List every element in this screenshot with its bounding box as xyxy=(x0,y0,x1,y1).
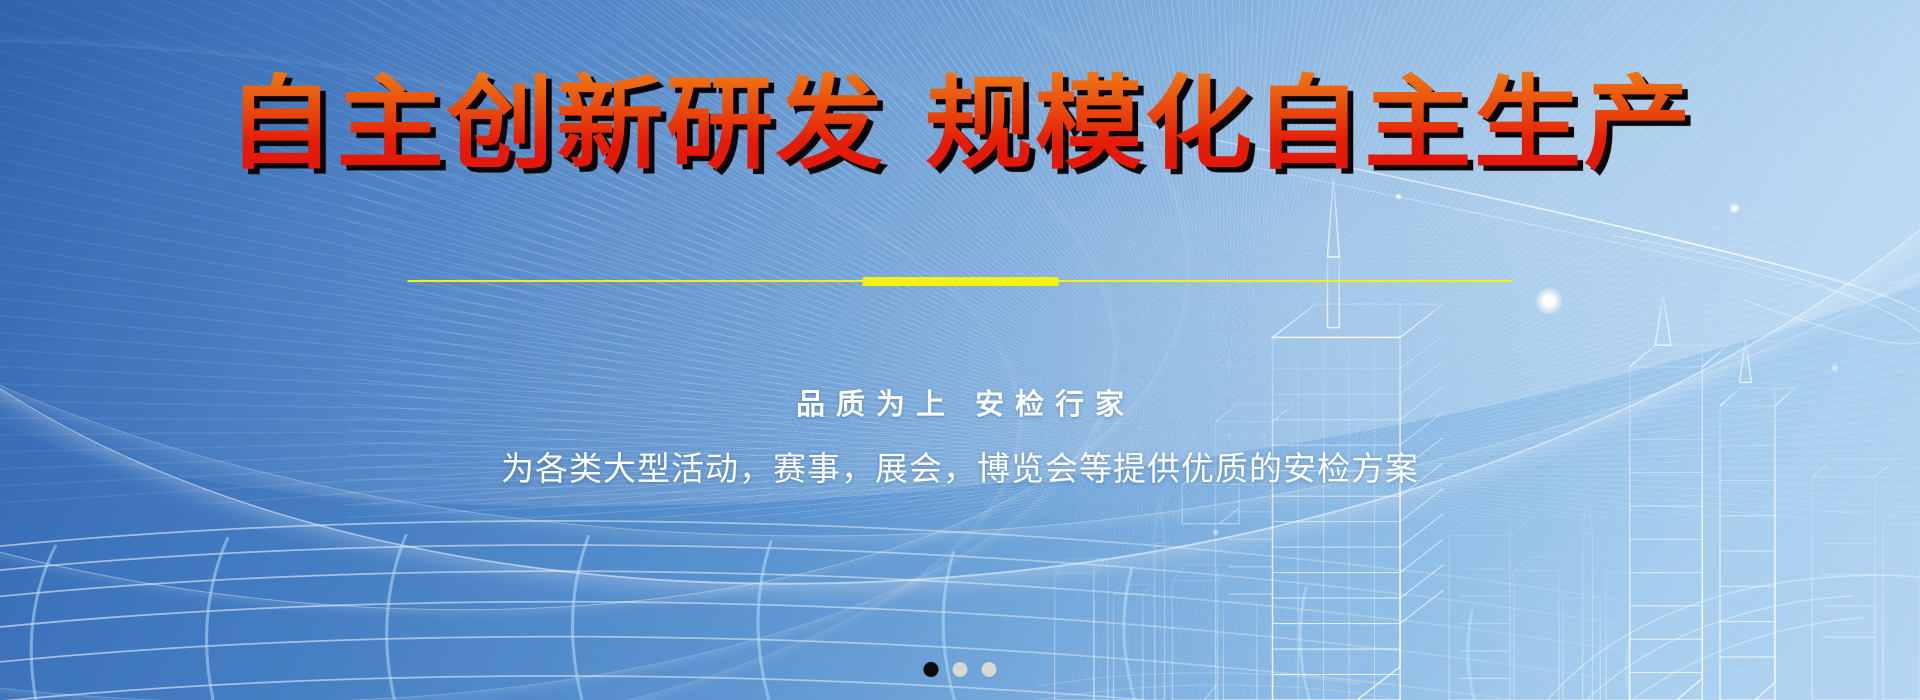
hero-banner: 自主创新研发 规模化自主生产 品质为上 安检行家 为各类大型活动，赛事，展会，博… xyxy=(0,0,1920,700)
carousel-dot-2[interactable] xyxy=(953,662,968,677)
banner-content: 自主创新研发 规模化自主生产 品质为上 安检行家 为各类大型活动，赛事，展会，博… xyxy=(0,0,1920,700)
banner-subline: 为各类大型活动，赛事，展会，博览会等提供优质的安检方案 xyxy=(0,447,1920,491)
banner-tagline: 品质为上 安检行家 xyxy=(0,387,1920,423)
divider-center-bar xyxy=(862,277,1058,286)
carousel-indicators[interactable] xyxy=(924,662,997,677)
banner-headline: 自主创新研发 规模化自主生产 xyxy=(0,69,1920,179)
divider-line-icon xyxy=(408,278,1513,284)
carousel-dot-3[interactable] xyxy=(982,662,997,677)
carousel-dot-1[interactable] xyxy=(924,662,939,677)
